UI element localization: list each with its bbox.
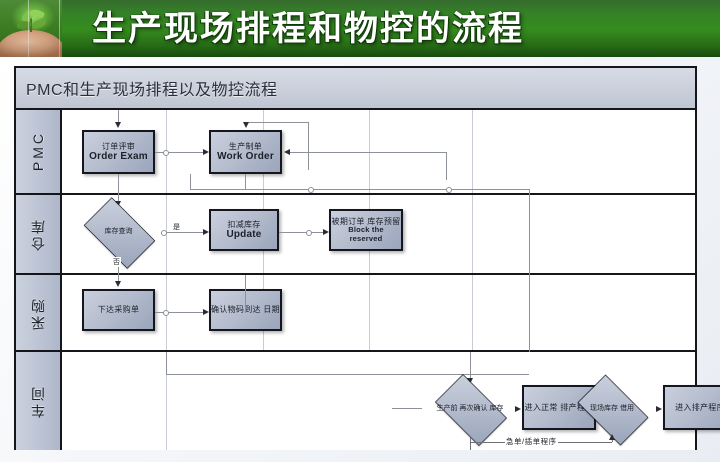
node-label-cn: 下达采购单 xyxy=(98,305,140,314)
node-enter-schedule[interactable]: 进入排产程序 xyxy=(663,385,720,430)
lane-container: PMC 订单评审 Order Exam xyxy=(16,110,695,450)
slide-title: 生产现场排程和物控的流程 xyxy=(92,4,524,54)
seedling-photo xyxy=(0,0,62,57)
node-onsite-stock[interactable]: 现场库存 借用 xyxy=(570,382,654,436)
node-label-cn: 扣减库存 xyxy=(227,220,260,229)
node-label-cn: 进入排产程序 xyxy=(675,403,720,412)
arrowhead xyxy=(243,122,249,128)
edge-return-top xyxy=(246,122,308,123)
node-label-cn: 库存查询 xyxy=(105,228,133,236)
edge-work-down xyxy=(245,174,246,189)
edge-right-rail xyxy=(529,275,530,352)
edge-right-rail xyxy=(529,195,530,275)
slide-body: PMC和生产现场排程以及物控流程 PMC xyxy=(0,57,720,462)
node-label-en: Order Exam xyxy=(89,151,148,163)
edge-into-reconfirm xyxy=(470,352,471,380)
edge-right-into-work xyxy=(286,152,446,153)
title-banner: 生产现场排程和物控的流程 xyxy=(0,0,720,57)
lane-pmc: PMC 订单评审 Order Exam xyxy=(16,110,695,195)
arrowhead xyxy=(609,434,615,440)
arrowhead xyxy=(115,122,121,128)
edge-junction xyxy=(308,187,314,193)
edge-left-to-reconfirm xyxy=(166,374,529,375)
lane-area-warehouse: 库存查询 是 否 扣减库存 Update xyxy=(62,195,695,273)
edge-junction xyxy=(163,150,169,156)
node-label-en: Update xyxy=(226,229,261,241)
edge-rail-left-up xyxy=(190,174,191,189)
edge-rail-into-diamond xyxy=(392,408,422,409)
lane-label-warehouse: 仓库 xyxy=(16,195,62,273)
node-issue-po[interactable]: 下达采购单 xyxy=(82,289,155,331)
lane-label-text: PMC xyxy=(30,131,46,171)
node-block-reserved[interactable]: 被期订单 库存预留 Block the reserved xyxy=(329,209,403,251)
diagram-title-text: PMC和生产现场排程以及物控流程 xyxy=(16,76,278,100)
hand-shape xyxy=(0,30,62,57)
grid-guide xyxy=(472,275,473,350)
edge-confirm-up xyxy=(245,275,246,312)
lane-label-workshop: 车间 xyxy=(16,352,62,450)
edge-junction xyxy=(446,187,452,193)
lane-label-pmc: PMC xyxy=(16,110,62,193)
node-reconfirm-stock[interactable]: 生产前 再次确认 库存 xyxy=(427,382,513,436)
edge-update-to-block xyxy=(279,232,327,233)
lane-label-purchase: 采购 xyxy=(16,275,62,350)
swimlane-diagram: PMC和生产现场排程以及物控流程 PMC xyxy=(14,66,697,450)
edge-label-no: 否 xyxy=(112,257,121,267)
edge-urgent-down xyxy=(470,436,471,450)
lane-label-text: 车间 xyxy=(28,384,48,418)
grid-guide xyxy=(472,110,473,193)
node-label-cn: 现场库存 借用 xyxy=(590,405,634,413)
lane-area-workshop: 生产前 再次确认 库存 进入正常 排产程序 现场库存 借用 xyxy=(62,352,695,450)
grid-guide xyxy=(472,195,473,273)
edge-label-yes: 是 xyxy=(172,222,181,232)
edge-left-down xyxy=(166,352,167,374)
node-stock-query[interactable]: 库存查询 xyxy=(76,205,161,259)
grid-guide xyxy=(369,275,370,350)
node-work-order[interactable]: 生产制单 Work Order xyxy=(209,130,282,174)
edge-order-down xyxy=(118,174,119,195)
lane-label-text: 采购 xyxy=(28,296,48,330)
diagram-title-band: PMC和生产现场排程以及物控流程 xyxy=(16,68,695,110)
node-label-cn: 订单评审 xyxy=(102,142,135,151)
edge-return-vert xyxy=(308,122,309,170)
lane-area-purchase: 下达采购单 确认物码到达 日期 xyxy=(62,275,695,350)
node-deduct-stock[interactable]: 扣减库存 Update xyxy=(209,209,279,251)
node-label-en: Block the reserved xyxy=(331,226,401,243)
lane-workshop: 车间 生产前 再次确认 库存 xyxy=(16,352,695,450)
arrowhead xyxy=(656,406,662,412)
edge-bottom-rail xyxy=(190,189,529,190)
slide-root: 生产现场排程和物控的流程 PMC和生产现场排程以及物控流程 PMC xyxy=(0,0,720,462)
edge-junction xyxy=(161,230,167,236)
node-order-exam[interactable]: 订单评审 Order Exam xyxy=(82,130,155,174)
node-label-en: Work Order xyxy=(217,151,274,163)
arrowhead xyxy=(115,281,121,287)
arrowhead xyxy=(284,149,290,155)
arrowhead xyxy=(515,406,521,412)
edge-right-vert xyxy=(446,152,447,180)
lane-warehouse: 仓库 库存查询 xyxy=(16,195,695,275)
photo-divider xyxy=(28,0,29,57)
node-label-cn: 生产制单 xyxy=(229,142,262,151)
lane-area-pmc: 订单评审 Order Exam 生产制单 Work Order xyxy=(62,110,695,193)
lane-label-text: 仓库 xyxy=(28,217,48,251)
edge-junction xyxy=(306,230,312,236)
edge-label-urgent-insert: 急单/插单程序 xyxy=(505,436,558,447)
node-label-cn: 生产前 再次确认 库存 xyxy=(437,405,504,413)
edge-junction xyxy=(163,310,169,316)
lane-purchase: 采购 下达采购单 xyxy=(16,275,695,352)
photo-divider xyxy=(59,0,60,57)
leaf-icon xyxy=(31,19,46,30)
edge-yes xyxy=(161,232,207,233)
